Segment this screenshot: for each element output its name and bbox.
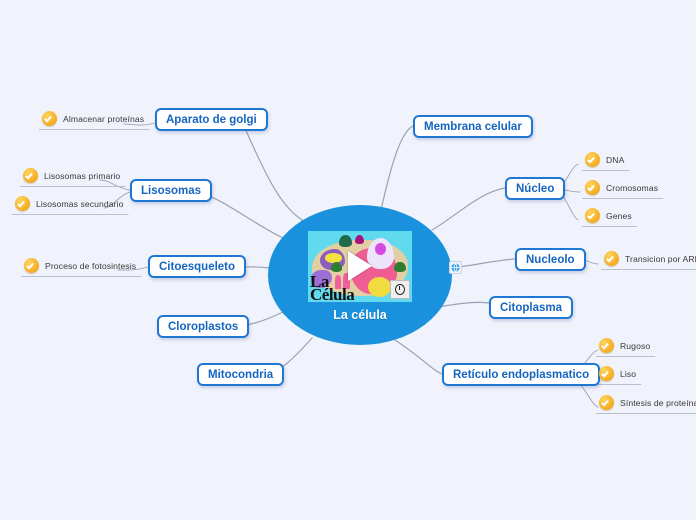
topic-node-label: Mitocondria	[208, 369, 273, 381]
topic-node-citoplasma[interactable]: Citoplasma	[489, 296, 573, 319]
central-node[interactable]: LaCélula La célula	[268, 205, 452, 345]
check-circle-icon[interactable]	[585, 180, 600, 195]
main-connector	[381, 126, 413, 210]
clock-badge-icon	[390, 280, 410, 298]
play-icon[interactable]	[348, 251, 372, 281]
topic-node-nucleolo[interactable]: Nucleolo	[515, 248, 586, 271]
topic-node-membrana-celular[interactable]: Membrana celular	[413, 115, 533, 138]
subtopic-label: Proceso de fotosintesis	[45, 261, 136, 271]
topic-node-nucleo[interactable]: Núcleo	[505, 177, 565, 200]
subtopic-label: Cromosomas	[606, 183, 658, 193]
topic-node-lisosomas[interactable]: Lisosomas	[130, 179, 212, 202]
mindmap-canvas: LaCélula La célula Aparato de golgiLisos…	[0, 0, 696, 520]
thumbnail-title-line2: Célula	[310, 285, 354, 302]
subtopic-rugoso[interactable]: Rugoso	[599, 338, 650, 353]
subtopic-dna[interactable]: DNA	[585, 152, 624, 167]
check-circle-icon[interactable]	[23, 168, 38, 183]
subtopic-cromosomas[interactable]: Cromosomas	[585, 180, 658, 195]
subtopic-proceso-de-fotosintesis[interactable]: Proceso de fotosintesis	[24, 258, 136, 273]
subtopic-lisosomas-secundario[interactable]: Lisosomas secundario	[15, 196, 124, 211]
topic-node-reticulo-endoplasmatico[interactable]: Retículo endoplasmatico	[442, 363, 600, 386]
subtopic-label: Transicion por ARN	[625, 254, 696, 264]
subtopic-label: Lisosomas primario	[44, 171, 120, 181]
subtopic-label: Lisosomas secundario	[36, 199, 124, 209]
main-connector	[241, 120, 306, 222]
subtopic-label: Síntesis de proteínas	[620, 398, 696, 408]
check-circle-icon[interactable]	[604, 251, 619, 266]
central-node-label: La célula	[333, 308, 387, 322]
subtopic-label: Almacenar proteínas	[63, 114, 144, 124]
subtopic-label: DNA	[606, 155, 624, 165]
topic-node-label: Retículo endoplasmatico	[453, 369, 589, 381]
check-circle-icon[interactable]	[599, 338, 614, 353]
subtopic-label: Rugoso	[620, 341, 650, 351]
subtopic-transicion-por-arn[interactable]: Transicion por ARN	[604, 251, 696, 266]
subtopic-lisosomas-primario[interactable]: Lisosomas primario	[23, 168, 120, 183]
check-circle-icon[interactable]	[585, 152, 600, 167]
subtopic-sintesis-de-proteinas[interactable]: Síntesis de proteínas	[599, 395, 696, 410]
central-video-thumbnail[interactable]: LaCélula	[308, 231, 412, 302]
topic-node-label: Lisosomas	[141, 185, 201, 197]
check-circle-icon[interactable]	[42, 111, 57, 126]
topic-node-mitocondria[interactable]: Mitocondria	[197, 363, 284, 386]
subtopic-label: Liso	[620, 369, 636, 379]
check-circle-icon[interactable]	[585, 208, 600, 223]
topic-node-label: Citoesqueleto	[159, 261, 235, 273]
subtopic-genes[interactable]: Genes	[585, 208, 632, 223]
globe-link-icon[interactable]	[449, 261, 462, 274]
subtopic-label: Genes	[606, 211, 632, 221]
check-circle-icon[interactable]	[599, 395, 614, 410]
topic-node-label: Núcleo	[516, 183, 554, 195]
check-circle-icon[interactable]	[15, 196, 30, 211]
subtopic-liso[interactable]: Liso	[599, 366, 636, 381]
subtopic-almacenar-proteinas[interactable]: Almacenar proteínas	[42, 111, 144, 126]
topic-node-label: Nucleolo	[526, 254, 575, 266]
topic-node-label: Aparato de golgi	[166, 114, 257, 126]
main-connector	[432, 188, 505, 230]
topic-node-cloroplastos[interactable]: Cloroplastos	[157, 315, 249, 338]
check-circle-icon[interactable]	[599, 366, 614, 381]
topic-node-aparato-de-golgi[interactable]: Aparato de golgi	[155, 108, 268, 131]
topic-node-label: Cloroplastos	[168, 321, 238, 333]
check-circle-icon[interactable]	[24, 258, 39, 273]
main-connector	[392, 338, 442, 374]
topic-node-label: Citoplasma	[500, 302, 562, 314]
topic-node-citoesqueleto[interactable]: Citoesqueleto	[148, 255, 246, 278]
topic-node-label: Membrana celular	[424, 121, 522, 133]
